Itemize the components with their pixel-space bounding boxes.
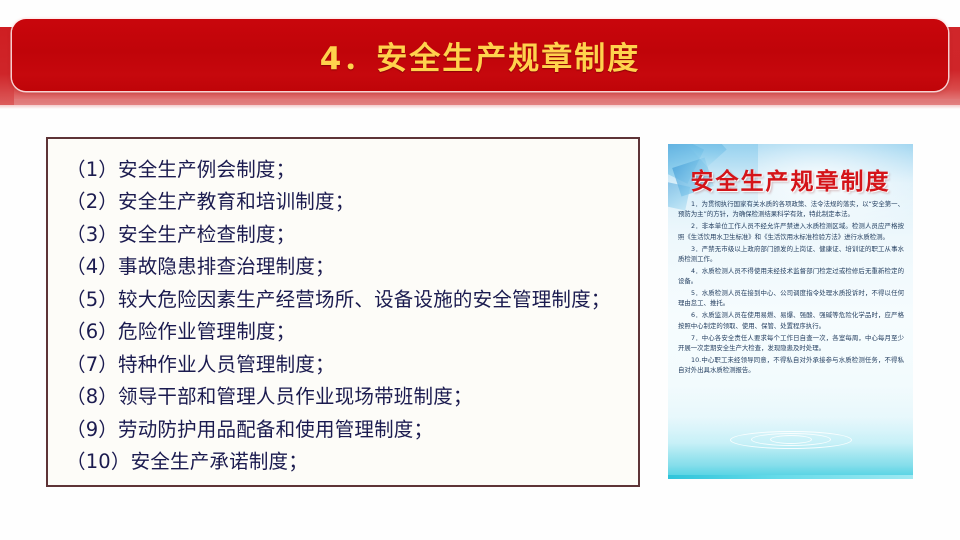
poster-paragraph: 3．严禁无市级以上政府部门颁发的上岗证、健康证、培训证的职工从事水质检测工作。 [678, 244, 904, 265]
list-item: （5）较大危险因素生产经营场所、设备设施的安全管理制度； [66, 283, 622, 316]
slide-header: 4．安全生产规章制度 [0, 0, 960, 112]
list-item: （10）安全生产承诺制度； [66, 446, 622, 479]
list-item: （6）危险作业管理制度； [66, 316, 622, 349]
poster-paragraph: 5．水质检测人员在接到中心、公司调度指令处理水质投诉时，不得以任何理由怠工、推托… [678, 288, 904, 309]
list-item: （9）劳动防护用品配备和使用管理制度； [66, 413, 622, 446]
regulations-textbox: （1）安全生产例会制度； （2）安全生产教育和培训制度； （3）安全生产检查制度… [46, 137, 640, 487]
list-item: （3）安全生产检查制度； [66, 218, 622, 251]
poster-paragraph: 7．中心各安全责任人要求每个工作日自查一次，各室每周，中心每月至少开展一次定期安… [678, 333, 904, 354]
slide-root: 4．安全生产规章制度 （1）安全生产例会制度； （2）安全生产教育和培训制度； … [0, 0, 960, 540]
list-item: （2）安全生产教育和培训制度； [66, 186, 622, 219]
poster-paragraph: 1．为贯彻执行国家有关水质的各项政策、法令法规的落实，以“安全第一、预防为主”的… [678, 199, 904, 220]
ripple-ring [770, 435, 812, 444]
list-item: （7）特种作业人员管理制度； [66, 348, 622, 381]
regulations-poster-image: 安全生产规章制度 1．为贯彻执行国家有关水质的各项政策、法令法规的落实，以“安全… [668, 144, 913, 479]
list-item: （4）事故隐患排查治理制度； [66, 251, 622, 284]
poster-paragraph: 4．水质检测人员不得使用未经技术监督部门检定过或检修后无重新检定的设备。 [678, 266, 904, 287]
poster-paragraph: 10.中心职工未经领导同意，不得私自对外承接参与水质检测任务，不得私自对外出具水… [678, 355, 904, 376]
poster-title: 安全生产规章制度 [668, 162, 913, 196]
list-item: （8）领导干部和管理人员作业现场带班制度； [66, 381, 622, 414]
poster-bottom-accent-line [668, 475, 913, 479]
regulations-list: （1）安全生产例会制度； （2）安全生产教育和培训制度； （3）安全生产检查制度… [66, 153, 622, 478]
header-underlay-fade [0, 99, 960, 109]
poster-paragraph: 6．水质监测人员在使用易燃、易爆、强酸、强碱等危险化学品时，应严格按照中心制定的… [678, 310, 904, 331]
poster-paragraph: 2．非本单位工作人员不经允许严禁进入水质检测区域。检测人员应严格按照《生活饮用水… [678, 221, 904, 242]
poster-body-text: 1．为贯彻执行国家有关水质的各项政策、法令法规的落实，以“安全第一、预防为主”的… [678, 199, 904, 377]
poster-water-ripple-graphic [668, 417, 913, 479]
page-title: 4．安全生产规章制度 [320, 33, 641, 78]
header-banner: 4．安全生产规章制度 [12, 19, 948, 91]
list-item: （1）安全生产例会制度； [66, 153, 622, 186]
